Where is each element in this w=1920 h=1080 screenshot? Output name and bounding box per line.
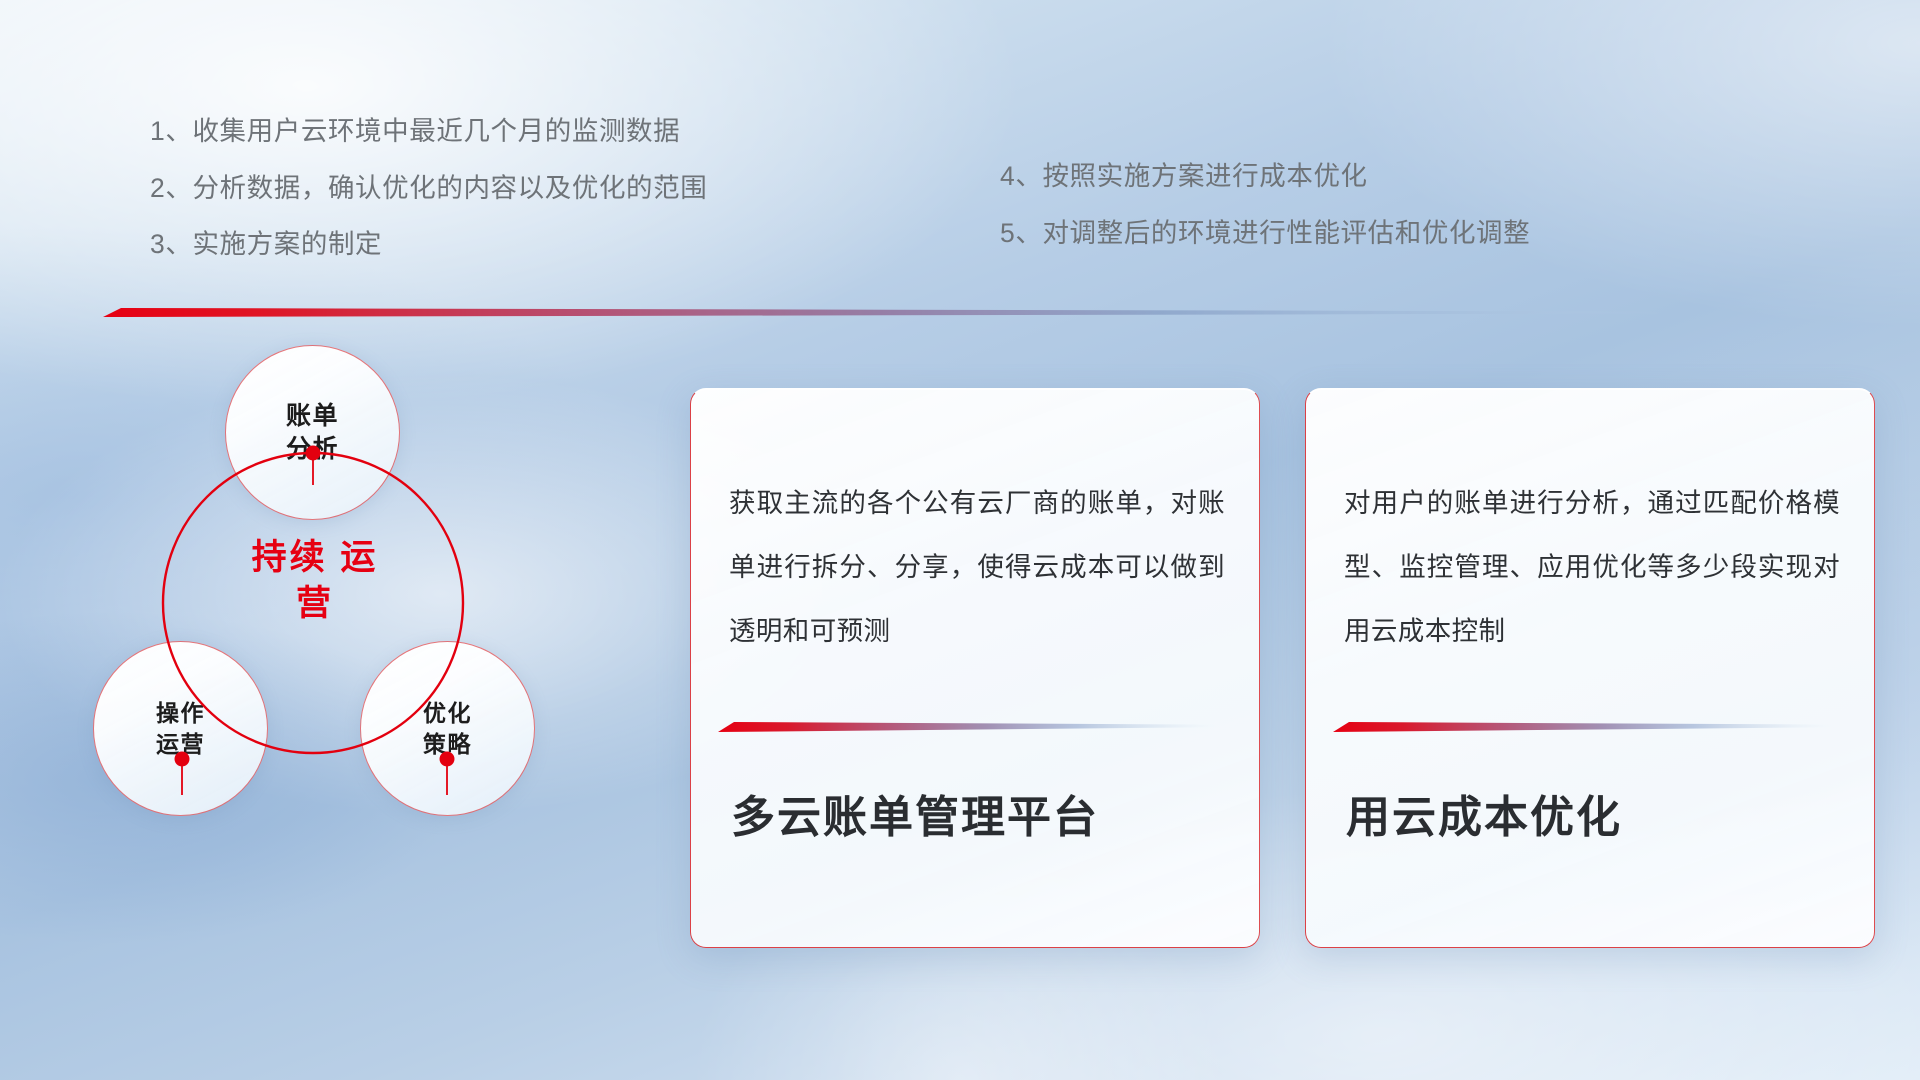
list-item-number: 4、: [1000, 163, 1042, 190]
list-item-label: 实施方案的制定: [192, 231, 382, 258]
card-accent-line: [1333, 719, 1833, 733]
node-dot-bottom-right: [440, 752, 455, 767]
card-body-text: 获取主流的各个公有云厂商的账单，对账单进行拆分、分享，使得云成本可以做到透明和可…: [729, 471, 1225, 663]
steps-list-left: 1、 收集用户云环境中最近几个月的监测数据 2、 分析数据，确认优化的内容以及优…: [150, 118, 910, 288]
diagram-ring-graphic: [75, 345, 635, 945]
card-body-text: 对用户的账单进行分析，通过匹配价格模型、监控管理、应用优化等多少段实现对用云成本…: [1344, 471, 1840, 663]
card-title: 用云成本优化: [1346, 781, 1622, 845]
list-item: 1、 收集用户云环境中最近几个月的监测数据: [150, 118, 910, 145]
node-dot-bottom-left: [175, 752, 190, 767]
list-item-number: 5、: [1000, 220, 1042, 247]
list-item-label: 按照实施方案进行成本优化: [1042, 163, 1367, 190]
list-item: 4、 按照实施方案进行成本优化: [1000, 163, 1780, 190]
card-accent-line: [718, 719, 1218, 733]
list-item-label: 对调整后的环境进行性能评估和优化调整: [1042, 220, 1530, 247]
list-item-number: 2、: [150, 175, 192, 202]
list-item-label: 分析数据，确认优化的内容以及优化的范围: [192, 175, 707, 202]
list-item-label: 收集用户云环境中最近几个月的监测数据: [192, 118, 680, 145]
node-dot-top: [306, 446, 321, 461]
list-item-number: 3、: [150, 231, 192, 258]
steps-list-right: 4、 按照实施方案进行成本优化 5、 对调整后的环境进行性能评估和优化调整: [1000, 163, 1780, 276]
card-title: 多云账单管理平台: [731, 781, 1099, 845]
list-item-number: 1、: [150, 118, 192, 145]
feature-card-cloud-cost-optimization[interactable]: 对用户的账单进行分析，通过匹配价格模型、监控管理、应用优化等多少段实现对用云成本…: [1305, 388, 1875, 948]
section-divider: [103, 305, 1663, 317]
list-item: 2、 分析数据，确认优化的内容以及优化的范围: [150, 175, 910, 202]
center-label-line-1: 持续: [252, 538, 328, 577]
feature-card-multi-cloud-billing[interactable]: 获取主流的各个公有云厂商的账单，对账单进行拆分、分享，使得云成本可以做到透明和可…: [690, 388, 1260, 948]
list-item: 5、 对调整后的环境进行性能评估和优化调整: [1000, 220, 1780, 247]
diagram-center-label: 持续 运营: [245, 535, 385, 626]
continuous-operations-diagram: 持续 运营 账单 分析 操作 运营 优化 策略: [75, 345, 635, 945]
list-item: 3、 实施方案的制定: [150, 231, 910, 258]
